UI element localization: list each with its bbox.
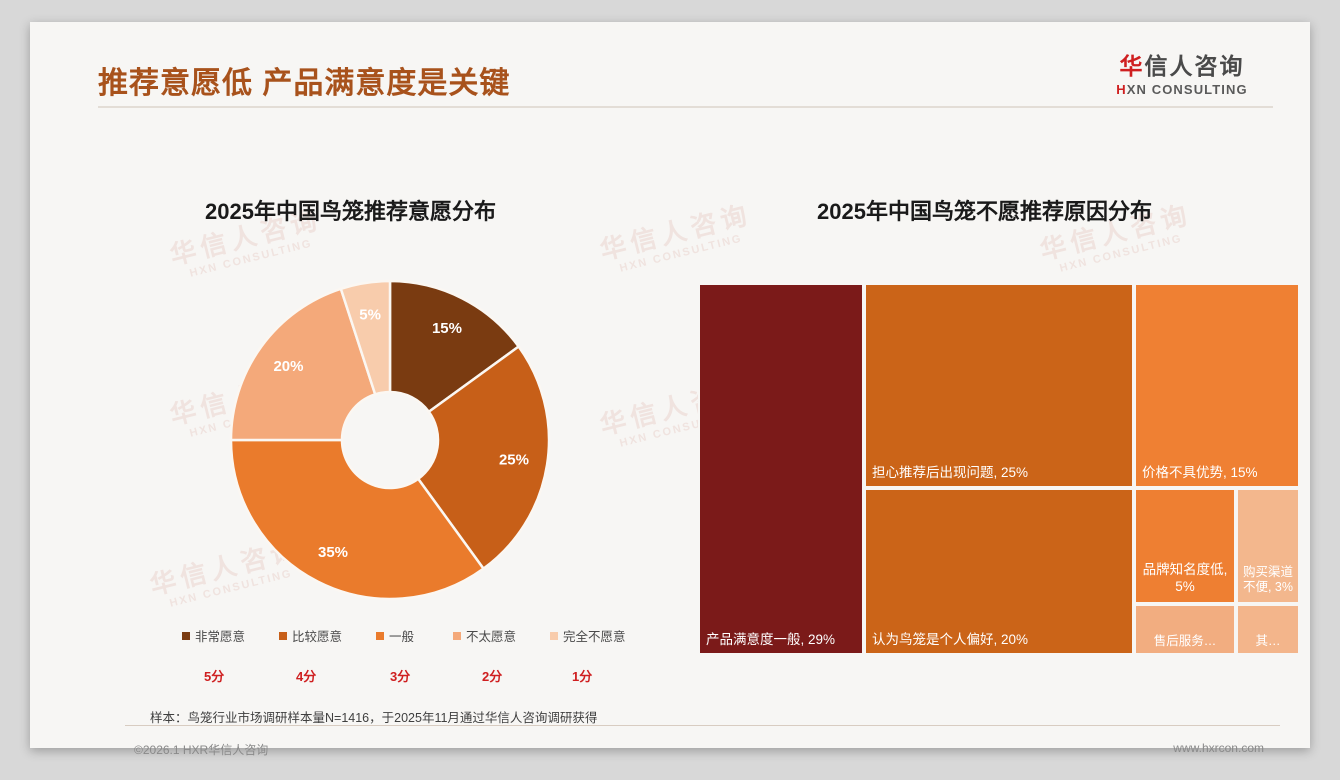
treemap-tile[interactable]: 担心推荐后出现问题, 25% xyxy=(864,283,1134,488)
legend-label: 比较愿意 xyxy=(292,626,342,645)
donut-legend: 非常愿意比较愿意一般不太愿意完全不愿意 xyxy=(182,626,662,644)
legend-label: 不太愿意 xyxy=(466,626,516,645)
watermark-cn: 华信人咨询 xyxy=(597,199,755,267)
score-label: 2分 xyxy=(482,666,502,685)
header-divider xyxy=(98,106,1273,108)
recommendation-donut-chart: 15%25%35%20%5% xyxy=(227,277,553,603)
watermark: 华信人咨询 HXN CONSULTING xyxy=(597,199,758,280)
sample-footnote: 样本：鸟笼行业市场调研样本量N=1416，于2025年11月通过华信人咨询调研获… xyxy=(150,707,597,726)
legend-swatch-icon xyxy=(279,632,287,640)
score-label: 1分 xyxy=(572,666,592,685)
treemap-tile-label: 价格不具优势, 15% xyxy=(1142,465,1294,482)
page-title: 推荐意愿低 产品满意度是关键 xyxy=(98,58,510,102)
legend-swatch-icon xyxy=(182,632,190,640)
legend-label: 一般 xyxy=(389,626,414,645)
treemap-tile[interactable]: 品牌知名度低, 5% xyxy=(1134,488,1236,604)
watermark-en: HXN CONSULTING xyxy=(604,229,758,279)
treemap-tile-label: 担心推荐后出现问题, 25% xyxy=(872,465,1128,482)
donut-slice-label: 5% xyxy=(359,306,381,323)
legend-label: 完全不愿意 xyxy=(563,626,626,645)
footer-divider xyxy=(125,725,1280,726)
left-chart-title: 2025年中国鸟笼推荐意愿分布 xyxy=(205,194,496,226)
logo-chinese-text: 华信人咨询 xyxy=(1094,54,1270,79)
donut-slice-label: 15% xyxy=(432,320,462,337)
right-chart-title: 2025年中国鸟笼不愿推荐原因分布 xyxy=(817,194,1152,226)
legend-item[interactable]: 完全不愿意 xyxy=(550,626,626,645)
logo-cn-highlight: 华 xyxy=(1120,53,1145,79)
donut-slice-label: 25% xyxy=(499,452,529,469)
legend-item[interactable]: 一般 xyxy=(376,626,414,645)
logo-cn-rest: 信人咨询 xyxy=(1145,53,1245,79)
donut-svg: 15%25%35%20%5% xyxy=(227,277,553,603)
company-logo: 华信人咨询 HXN CONSULTING xyxy=(1094,54,1270,97)
logo-english-text: HXN CONSULTING xyxy=(1094,82,1270,97)
website-url: www.hxrcon.com xyxy=(1173,741,1264,755)
donut-slice-label: 35% xyxy=(318,544,348,561)
legend-label: 非常愿意 xyxy=(195,626,245,645)
treemap-tile[interactable]: 其… xyxy=(1236,604,1300,655)
slide-canvas: 推荐意愿低 产品满意度是关键 华信人咨询 HXN CONSULTING 华信人咨… xyxy=(30,22,1310,748)
treemap-tile[interactable]: 产品满意度一般, 29% xyxy=(698,283,864,655)
treemap-tile-label: 其… xyxy=(1240,634,1296,650)
treemap-tile-label: 售后服务… xyxy=(1138,634,1232,650)
treemap-tile[interactable]: 认为鸟笼是个人偏好, 20% xyxy=(864,488,1134,655)
treemap-tile-label: 品牌知名度低, 5% xyxy=(1138,562,1232,596)
score-label: 5分 xyxy=(204,666,224,685)
legend-swatch-icon xyxy=(376,632,384,640)
treemap-tile[interactable]: 价格不具优势, 15% xyxy=(1134,283,1300,488)
copyright-text: ©2026.1 HXR华信人咨询 xyxy=(134,741,268,758)
donut-score-row: 5分4分3分2分1分 xyxy=(182,666,662,686)
treemap-tile-label: 购买渠道不便, 3% xyxy=(1240,565,1296,596)
slide-header: 推荐意愿低 产品满意度是关键 华信人咨询 HXN CONSULTING xyxy=(30,22,1310,114)
treemap-tile-label: 认为鸟笼是个人偏好, 20% xyxy=(872,632,1128,649)
treemap-tile[interactable]: 售后服务… xyxy=(1134,604,1236,655)
legend-item[interactable]: 不太愿意 xyxy=(453,626,516,645)
legend-item[interactable]: 非常愿意 xyxy=(182,626,245,645)
logo-en-highlight: H xyxy=(1116,82,1127,97)
legend-swatch-icon xyxy=(453,632,461,640)
watermark-en: HXN CONSULTING xyxy=(1044,229,1198,279)
reasons-treemap-chart: 产品满意度一般, 29%担心推荐后出现问题, 25%认为鸟笼是个人偏好, 20%… xyxy=(698,283,1300,655)
legend-swatch-icon xyxy=(550,632,558,640)
treemap-tile-label: 产品满意度一般, 29% xyxy=(706,632,858,649)
score-label: 4分 xyxy=(296,666,316,685)
logo-en-rest: XN CONSULTING xyxy=(1127,82,1248,97)
legend-item[interactable]: 比较愿意 xyxy=(279,626,342,645)
donut-slice-label: 20% xyxy=(273,358,303,375)
treemap-tile[interactable]: 购买渠道不便, 3% xyxy=(1236,488,1300,604)
score-label: 3分 xyxy=(390,666,410,685)
